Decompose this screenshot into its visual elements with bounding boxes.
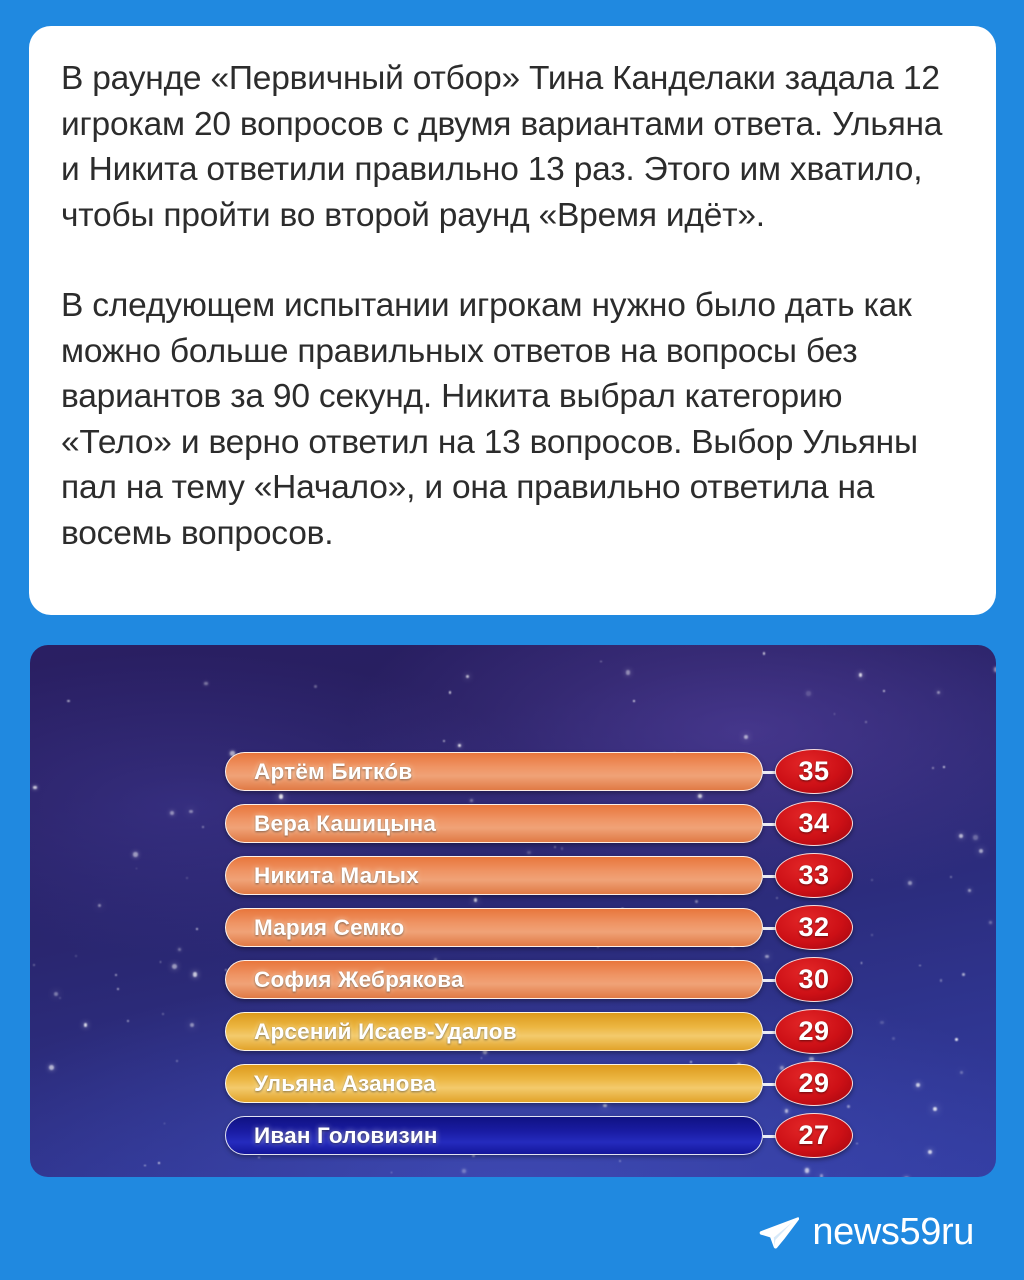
player-name: Мария Семко [226,915,405,941]
star-dot [820,1174,823,1177]
star-dot [928,1150,932,1154]
star-dot [127,1020,129,1022]
star-dot [176,1060,178,1062]
star-dot [75,955,77,957]
star-dot [449,691,451,693]
star-dot [916,1083,920,1087]
player-name: София Жебрякова [226,967,464,993]
player-bar: Иван Головизин [225,1116,763,1155]
star-dot [190,1023,194,1027]
star-dot [115,974,117,976]
star-dot [979,849,983,853]
star-dot [883,690,885,692]
star-dot [54,992,58,996]
star-dot [805,1168,809,1172]
score-badge: 27 [775,1113,853,1158]
score-badge: 35 [775,749,853,794]
star-dot [626,670,631,675]
star-dot [994,667,996,672]
star-dot [172,964,177,969]
star-dot [962,973,965,976]
leaderboard-row: Арсений Исаев-Удалов29 [225,1009,865,1061]
player-name: Иван Головизин [226,1123,438,1149]
score-value: 34 [798,808,829,839]
player-name: Арсений Исаев-Удалов [226,1019,517,1045]
star-dot [33,964,35,966]
star-dot [193,972,198,977]
star-dot [164,1123,165,1124]
score-value: 32 [798,912,829,943]
star-dot [806,691,810,695]
player-bar: София Жебрякова [225,960,763,999]
star-dot [466,675,469,678]
star-dot [973,835,978,840]
leaderboard-row: Никита Малых33 [225,853,865,905]
star-dot [136,868,137,869]
star-dot [865,721,867,723]
player-name: Никита Малых [226,863,419,889]
score-value: 35 [798,756,829,787]
star-dot [880,1021,883,1024]
star-dot [932,767,934,769]
star-dot [98,904,101,907]
player-bar: Арсений Исаев-Удалов [225,1012,763,1051]
watermark-label: news59ru [812,1211,974,1254]
leaderboard: Артём Биткóв35Вера Кашицына34Никита Малы… [225,749,865,1165]
article-paragraph: В раунде «Первичный отбор» Тина Канделак… [61,56,962,238]
score-value: 29 [798,1016,829,1047]
score-badge: 29 [775,1009,853,1054]
star-dot [960,1071,963,1074]
score-value: 33 [798,860,829,891]
star-dot [144,1165,145,1166]
star-dot [458,744,461,747]
star-dot [834,713,836,715]
star-dot [204,682,207,685]
leaderboard-row: Мария Семко32 [225,905,865,957]
star-dot [989,921,992,924]
star-dot [871,879,873,881]
telegram-icon [759,1216,799,1250]
score-value: 29 [798,1068,829,1099]
star-dot [633,700,635,702]
star-dot [67,700,70,703]
article-paragraph: В следующем испытании игрокам нужно было… [61,283,962,556]
star-dot [763,652,765,654]
article-card: В раунде «Первичный отбор» Тина Канделак… [29,26,996,615]
star-dot [871,934,872,935]
watermark: news59ru [759,1211,974,1254]
star-dot [33,786,37,790]
star-dot [189,810,192,813]
star-dot [968,889,971,892]
score-badge: 30 [775,957,853,1002]
leaderboard-row: София Жебрякова30 [225,957,865,1009]
leaderboard-row: Артём Биткóв35 [225,749,865,801]
star-dot [940,979,942,981]
score-badge: 34 [775,801,853,846]
star-dot [391,1172,392,1173]
star-dot [933,1107,937,1111]
score-value: 30 [798,964,829,995]
player-name: Вера Кашицына [226,811,436,837]
star-dot [943,766,945,768]
player-bar: Артём Биткóв [225,752,763,791]
star-dot [314,685,317,688]
star-dot [196,928,198,930]
leaderboard-row: Ульяна Азанова29 [225,1061,865,1113]
player-name: Артём Биткóв [226,759,412,785]
player-bar: Никита Малых [225,856,763,895]
score-value: 27 [798,1120,829,1151]
star-dot [162,1013,164,1015]
player-bar: Мария Семко [225,908,763,947]
star-dot [49,1065,54,1070]
score-badge: 29 [775,1061,853,1106]
star-dot [178,948,181,951]
score-badge: 33 [775,853,853,898]
star-dot [462,1169,466,1173]
leaderboard-row: Иван Головизин27 [225,1113,865,1165]
star-dot [59,997,61,999]
star-dot [158,1162,160,1164]
star-dot [600,661,602,663]
star-dot [908,881,912,885]
star-dot [117,988,120,991]
star-dot [937,691,940,694]
star-dot [744,735,748,739]
player-bar: Ульяна Азанова [225,1064,763,1103]
score-badge: 32 [775,905,853,950]
star-dot [950,876,952,878]
star-dot [133,852,138,857]
tv-show-screenshot-panel: Артём Биткóв35Вера Кашицына34Никита Малы… [30,645,996,1177]
leaderboard-row: Вера Кашицына34 [225,801,865,853]
player-bar: Вера Кашицына [225,804,763,843]
star-dot [202,826,204,828]
star-dot [160,961,162,963]
star-dot [919,965,921,967]
player-name: Ульяна Азанова [226,1071,436,1097]
star-dot [170,811,174,815]
star-dot [84,1023,88,1027]
star-dot [959,834,963,838]
star-dot [859,673,862,676]
article-body: В раунде «Первичный отбор» Тина Канделак… [29,26,996,556]
star-dot [904,1177,909,1178]
star-dot [892,1037,895,1040]
star-dot [443,740,445,742]
star-dot [186,877,188,879]
star-dot [955,1038,958,1041]
